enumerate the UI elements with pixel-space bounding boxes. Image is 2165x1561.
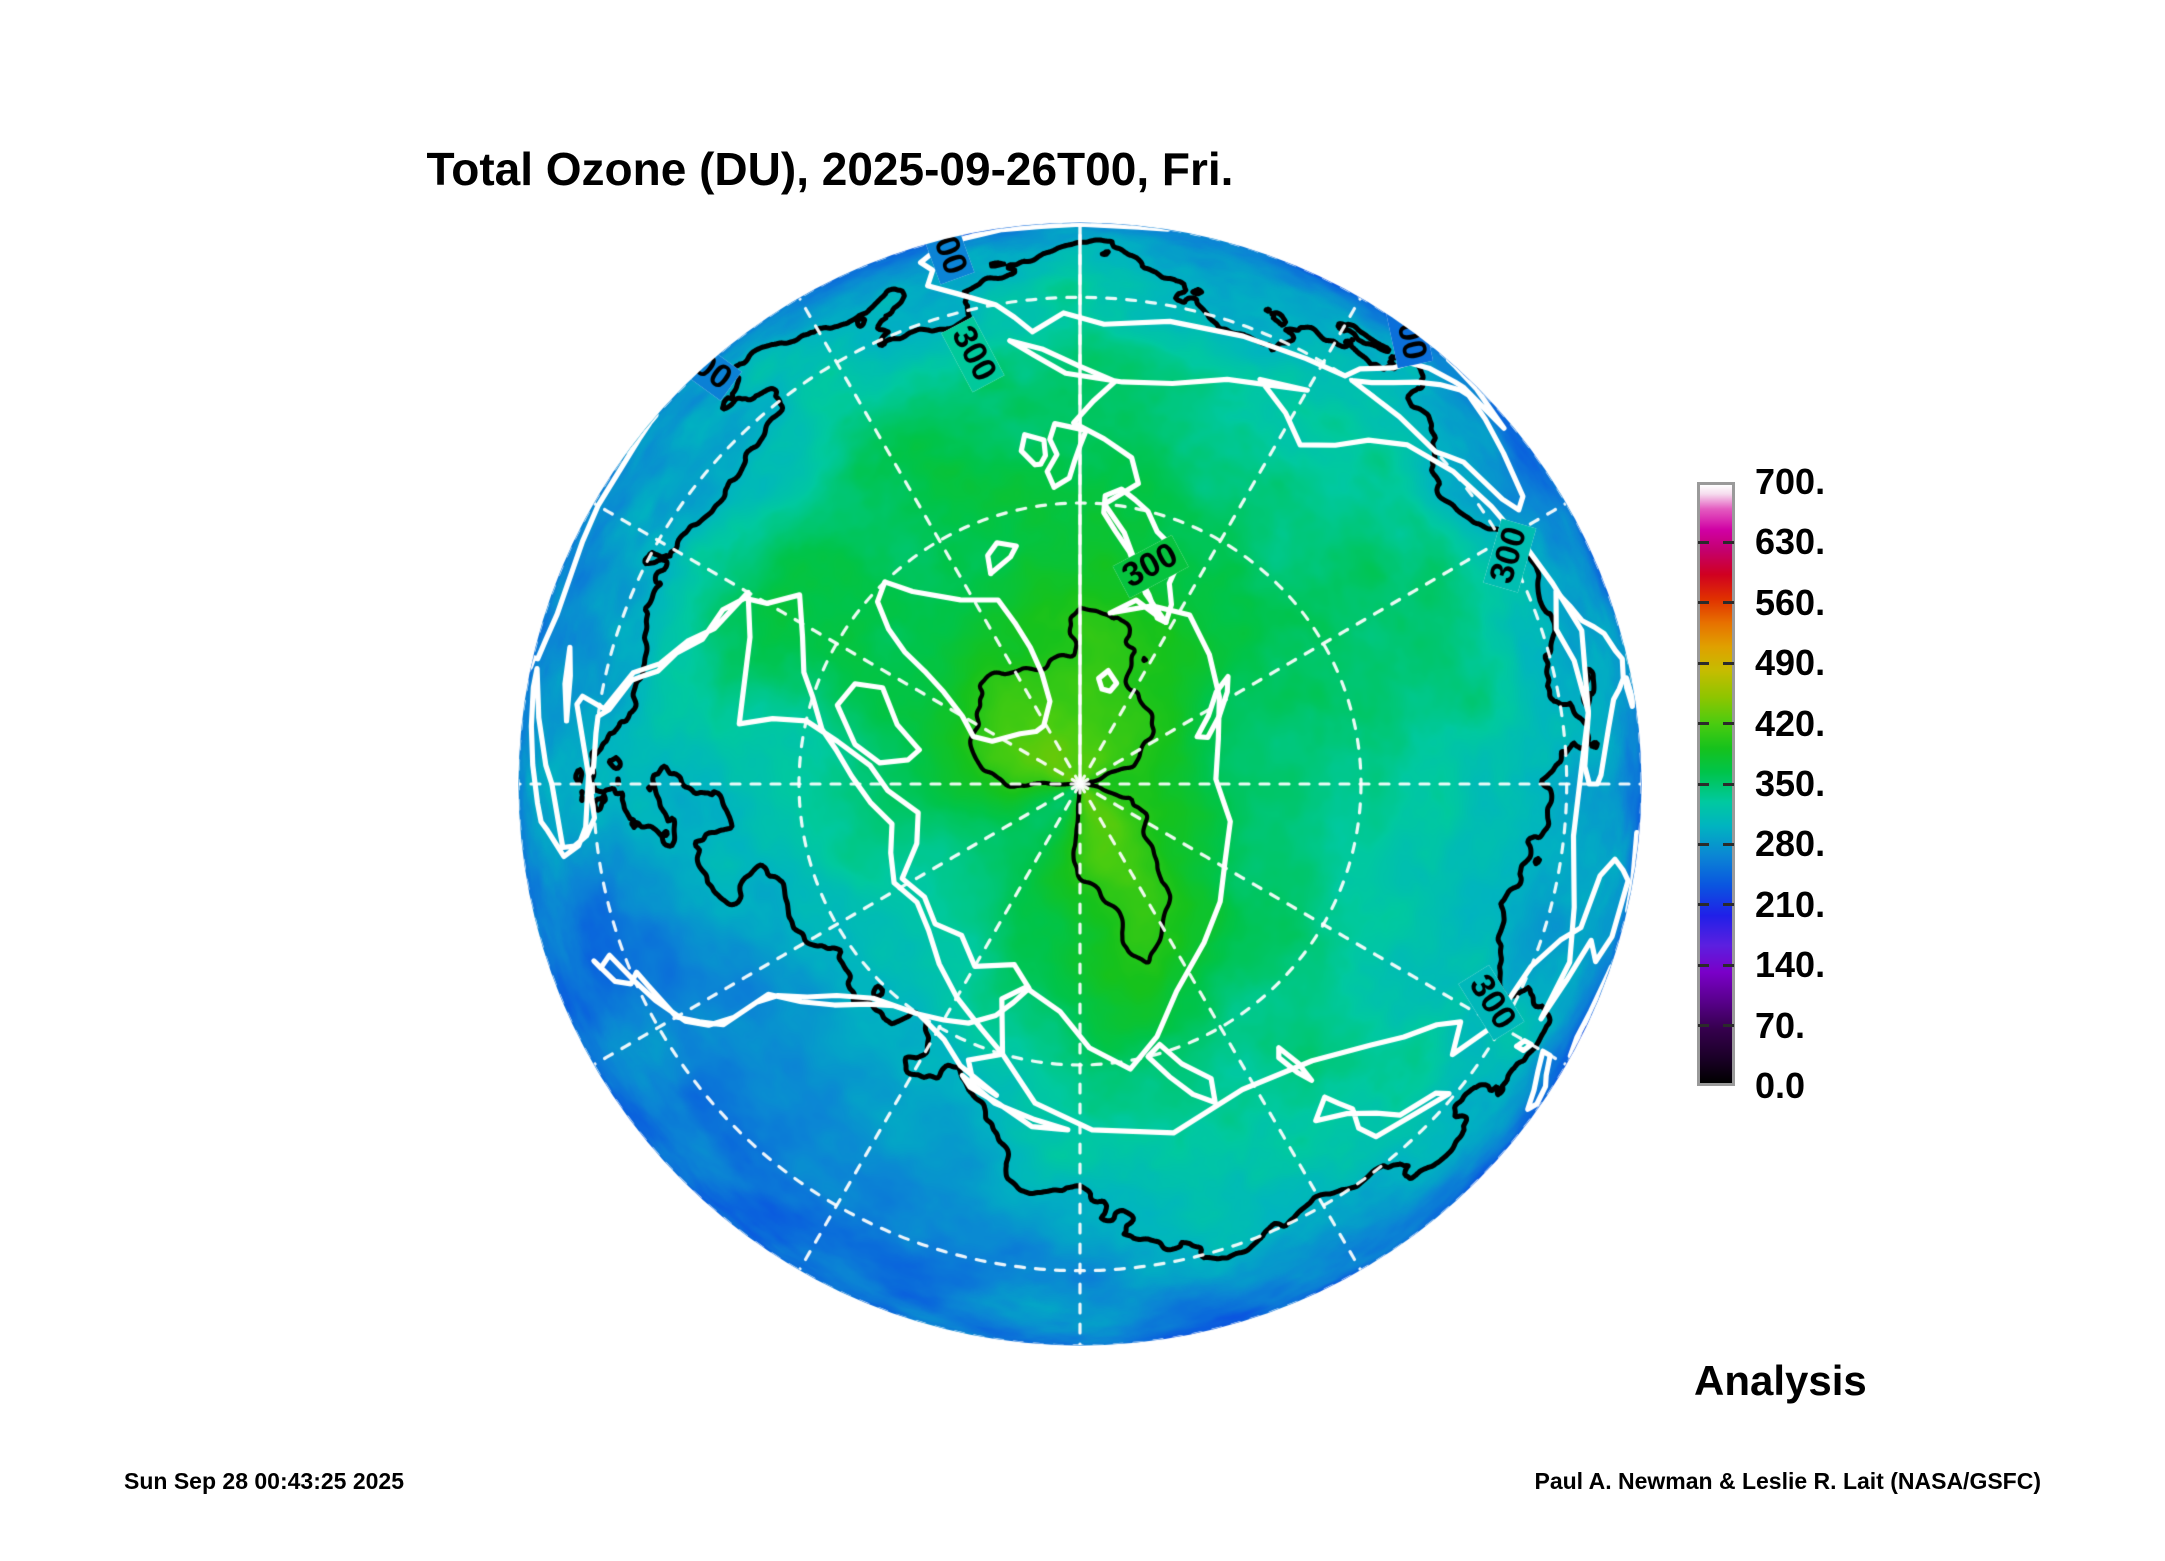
colorbar-label: 70.: [1755, 1008, 1805, 1044]
colorbar-tick: [1698, 662, 1709, 665]
colorbar-tick: [1723, 601, 1734, 604]
ozone-globe-map: [518, 222, 1642, 1346]
colorbar-label: 700.: [1755, 464, 1825, 500]
colorbar: 700.630.560.490.420.350.280.210.140.70.0…: [1697, 482, 2097, 1092]
colorbar-label: 350.: [1755, 766, 1825, 802]
colorbar-label: 0.0: [1755, 1068, 1805, 1104]
colorbar-tick: [1723, 843, 1734, 846]
colorbar-tick: [1723, 783, 1734, 786]
colorbar-tick: [1698, 783, 1709, 786]
colorbar-label: 490.: [1755, 645, 1825, 681]
colorbar-label: 560.: [1755, 585, 1825, 621]
colorbar-label: 210.: [1755, 887, 1825, 923]
colorbar-tick: [1698, 1024, 1709, 1027]
colorbar-label: 280.: [1755, 826, 1825, 862]
colorbar-tick: [1723, 964, 1734, 967]
colorbar-label: 420.: [1755, 706, 1825, 742]
colorbar-tick: [1698, 541, 1709, 544]
analysis-label: Analysis: [1694, 1357, 1867, 1405]
colorbar-tick: [1723, 903, 1734, 906]
colorbar-tick: [1723, 1024, 1734, 1027]
colorbar-tick: [1698, 722, 1709, 725]
footer-credit: Paul A. Newman & Leslie R. Lait (NASA/GS…: [1534, 1468, 2041, 1495]
ozone-field-canvas: [518, 222, 1642, 1346]
colorbar-tick: [1723, 722, 1734, 725]
colorbar-tick: [1698, 601, 1709, 604]
page-title: Total Ozone (DU), 2025-09-26T00, Fri.: [0, 142, 1660, 196]
colorbar-tick: [1723, 541, 1734, 544]
colorbar-tick: [1698, 843, 1709, 846]
colorbar-label: 630.: [1755, 524, 1825, 560]
colorbar-tick: [1698, 964, 1709, 967]
colorbar-tick: [1698, 903, 1709, 906]
footer-timestamp: Sun Sep 28 00:43:25 2025: [124, 1468, 404, 1495]
colorbar-label: 140.: [1755, 947, 1825, 983]
colorbar-tick: [1723, 662, 1734, 665]
